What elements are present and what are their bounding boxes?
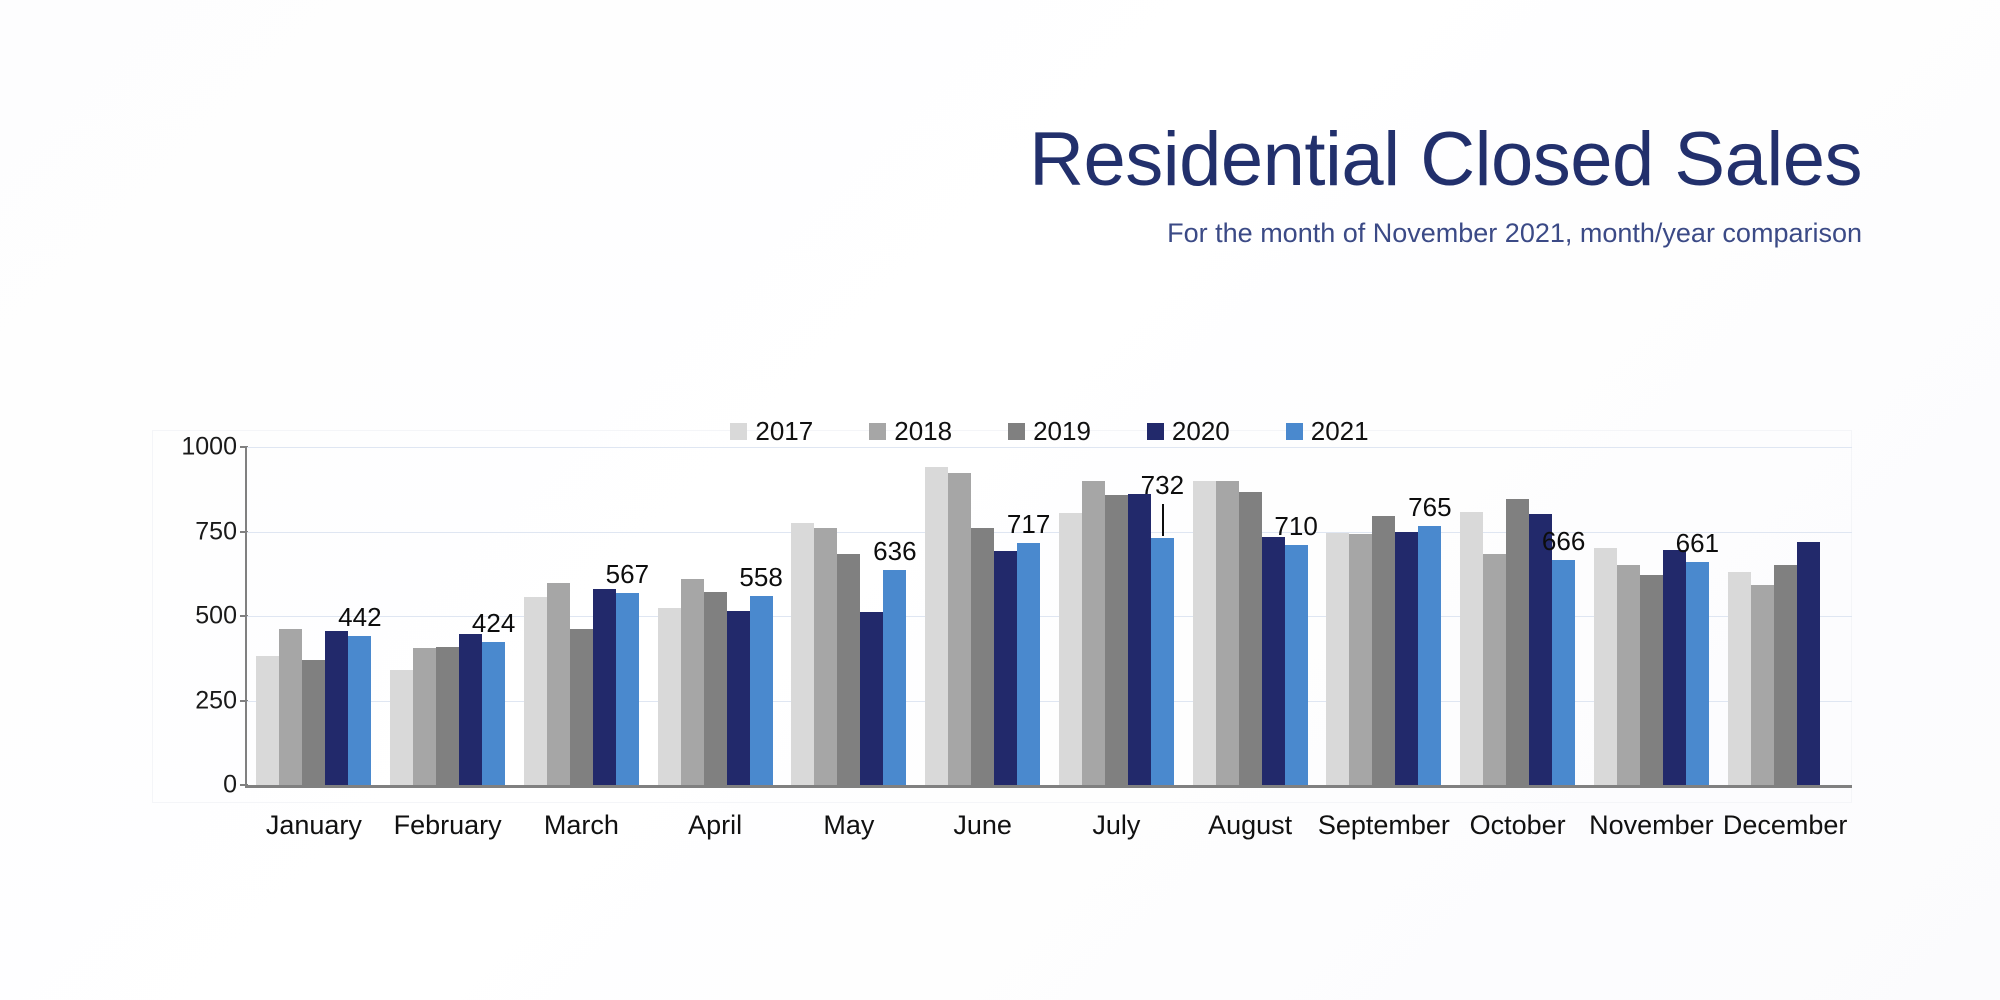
legend-item-2020[interactable]: 2020 xyxy=(1147,418,1230,444)
bar-2021-february[interactable] xyxy=(482,642,505,785)
bar-2019-august[interactable] xyxy=(1239,492,1262,785)
bar-2018-may[interactable] xyxy=(814,528,837,785)
bar-2021-october[interactable] xyxy=(1552,560,1575,785)
bar-2017-april[interactable] xyxy=(658,608,681,785)
bar-data-label: 765 xyxy=(1408,492,1451,523)
y-axis-tick-label: 0 xyxy=(223,771,237,800)
bar-2020-august[interactable] xyxy=(1262,537,1285,785)
bar-2017-july[interactable] xyxy=(1059,513,1082,785)
bar-2020-february[interactable] xyxy=(459,634,482,785)
legend-swatch-icon xyxy=(1286,423,1303,440)
bar-2021-january[interactable] xyxy=(348,636,371,785)
bar-2018-february[interactable] xyxy=(413,648,436,785)
bar-2019-december[interactable] xyxy=(1774,565,1797,785)
bar-2018-september[interactable] xyxy=(1349,534,1372,785)
x-axis-label-october: October xyxy=(1451,810,1585,841)
bar-2020-december[interactable] xyxy=(1797,542,1820,785)
bar-2017-march[interactable] xyxy=(524,597,547,785)
bar-2017-june[interactable] xyxy=(925,467,948,785)
bar-group-november: 661 xyxy=(1585,447,1719,785)
bar-2018-january[interactable] xyxy=(279,629,302,785)
bar-group-december xyxy=(1718,447,1852,785)
legend-swatch-icon xyxy=(1147,423,1164,440)
legend-item-2018[interactable]: 2018 xyxy=(869,418,952,444)
bar-2019-may[interactable] xyxy=(837,554,860,785)
x-axis-label-december: December xyxy=(1718,810,1852,841)
y-axis-tick-label: 250 xyxy=(195,686,237,715)
bar-group-february: 424 xyxy=(381,447,515,785)
bar-2019-march[interactable] xyxy=(570,629,593,785)
bar-2019-july[interactable] xyxy=(1105,495,1128,785)
bar-2018-october[interactable] xyxy=(1483,554,1506,785)
bar-2020-january[interactable] xyxy=(325,631,348,785)
bar-group-may: 636 xyxy=(782,447,916,785)
x-axis-label-may: May xyxy=(782,810,916,841)
y-axis-tick-label: 500 xyxy=(195,602,237,631)
bar-2017-november[interactable] xyxy=(1594,548,1617,785)
chart-legend: 20172018201920202021 xyxy=(247,418,1852,444)
legend-label: 2018 xyxy=(894,418,952,444)
bar-2021-july[interactable] xyxy=(1151,538,1174,785)
bar-2017-january[interactable] xyxy=(256,656,279,785)
bar-2017-february[interactable] xyxy=(390,670,413,785)
page-title: Residential Closed Sales xyxy=(0,118,1862,202)
plot-bars: 442424567558636717732710765666661 xyxy=(247,447,1852,785)
legend-label: 2019 xyxy=(1033,418,1091,444)
x-axis-label-june: June xyxy=(916,810,1050,841)
bar-2018-december[interactable] xyxy=(1751,585,1774,785)
bar-2018-april[interactable] xyxy=(681,579,704,785)
bar-data-label: 424 xyxy=(472,608,515,639)
legend-swatch-icon xyxy=(1008,423,1025,440)
legend-label: 2021 xyxy=(1311,418,1369,444)
bar-data-label: 661 xyxy=(1676,528,1719,559)
y-axis-labels: 02505007501000 xyxy=(152,430,237,803)
x-axis-label-august: August xyxy=(1183,810,1317,841)
bar-2018-june[interactable] xyxy=(948,473,971,785)
x-axis-label-january: January xyxy=(247,810,381,841)
bar-2018-march[interactable] xyxy=(547,583,570,785)
bar-2018-november[interactable] xyxy=(1617,565,1640,785)
bar-2019-october[interactable] xyxy=(1506,499,1529,785)
bar-2019-april[interactable] xyxy=(704,592,727,785)
bar-2021-april[interactable] xyxy=(750,596,773,785)
bar-2017-may[interactable] xyxy=(791,523,814,785)
x-axis-labels: JanuaryFebruaryMarchAprilMayJuneJulyAugu… xyxy=(247,810,1852,841)
bar-data-label: 717 xyxy=(1007,509,1050,540)
legend-swatch-icon xyxy=(730,423,747,440)
x-axis-label-april: April xyxy=(648,810,782,841)
y-axis-tick-label: 750 xyxy=(195,517,237,546)
bar-2017-august[interactable] xyxy=(1193,481,1216,785)
bar-2020-april[interactable] xyxy=(727,611,750,785)
bar-data-label: 558 xyxy=(739,562,782,593)
bar-2020-may[interactable] xyxy=(860,612,883,785)
bar-group-january: 442 xyxy=(247,447,381,785)
legend-label: 2020 xyxy=(1172,418,1230,444)
y-axis-tick-label: 1000 xyxy=(181,433,237,462)
bar-2020-july[interactable] xyxy=(1128,494,1151,785)
bar-2019-november[interactable] xyxy=(1640,575,1663,785)
bar-chart: 02505007501000 20172018201920202021 4424… xyxy=(152,430,1852,830)
legend-swatch-icon xyxy=(869,423,886,440)
bar-2021-august[interactable] xyxy=(1285,545,1308,785)
x-axis-label-september: September xyxy=(1317,810,1451,841)
bar-2021-may[interactable] xyxy=(883,570,906,785)
legend-item-2017[interactable]: 2017 xyxy=(730,418,813,444)
bar-group-june: 717 xyxy=(916,447,1050,785)
x-axis-label-july: July xyxy=(1050,810,1184,841)
bar-data-label: 710 xyxy=(1274,511,1317,542)
x-axis-label-february: February xyxy=(381,810,515,841)
bar-2017-september[interactable] xyxy=(1326,533,1349,785)
bar-2020-november[interactable] xyxy=(1663,550,1686,785)
x-axis-label-november: November xyxy=(1585,810,1719,841)
x-axis-label-march: March xyxy=(515,810,649,841)
leader-line xyxy=(1162,504,1164,536)
bar-group-august: 710 xyxy=(1183,447,1317,785)
bar-2018-august[interactable] xyxy=(1216,481,1239,785)
bar-2021-september[interactable] xyxy=(1418,526,1441,785)
bar-2019-june[interactable] xyxy=(971,528,994,785)
bar-data-label: 442 xyxy=(338,602,381,633)
bar-data-label: 636 xyxy=(873,536,916,567)
slide-canvas: Residential Closed Sales For the month o… xyxy=(0,0,2000,1000)
bar-2020-march[interactable] xyxy=(593,589,616,785)
bar-group-march: 567 xyxy=(515,447,649,785)
bar-2019-september[interactable] xyxy=(1372,516,1395,785)
bar-data-label: 666 xyxy=(1542,526,1585,557)
legend-item-2021[interactable]: 2021 xyxy=(1286,418,1369,444)
bar-2021-june[interactable] xyxy=(1017,543,1040,785)
bar-group-july: 732 xyxy=(1050,447,1184,785)
bar-2021-november[interactable] xyxy=(1686,562,1709,785)
bar-2021-march[interactable] xyxy=(616,593,639,785)
x-axis-baseline xyxy=(245,785,1852,788)
bar-group-april: 558 xyxy=(648,447,782,785)
bar-2020-june[interactable] xyxy=(994,551,1017,785)
bar-2019-february[interactable] xyxy=(436,647,459,785)
legend-item-2019[interactable]: 2019 xyxy=(1008,418,1091,444)
bar-2018-july[interactable] xyxy=(1082,481,1105,785)
chart-header: Residential Closed Sales For the month o… xyxy=(0,118,1862,250)
bar-2017-december[interactable] xyxy=(1728,572,1751,785)
page-subtitle: For the month of November 2021, month/ye… xyxy=(0,216,1862,250)
bar-data-label: 732 xyxy=(1141,470,1184,501)
bar-group-october: 666 xyxy=(1451,447,1585,785)
bar-data-label: 567 xyxy=(606,559,649,590)
bar-2017-october[interactable] xyxy=(1460,512,1483,785)
bar-2019-january[interactable] xyxy=(302,660,325,785)
bar-2020-september[interactable] xyxy=(1395,532,1418,786)
legend-label: 2017 xyxy=(755,418,813,444)
bar-group-september: 765 xyxy=(1317,447,1451,785)
